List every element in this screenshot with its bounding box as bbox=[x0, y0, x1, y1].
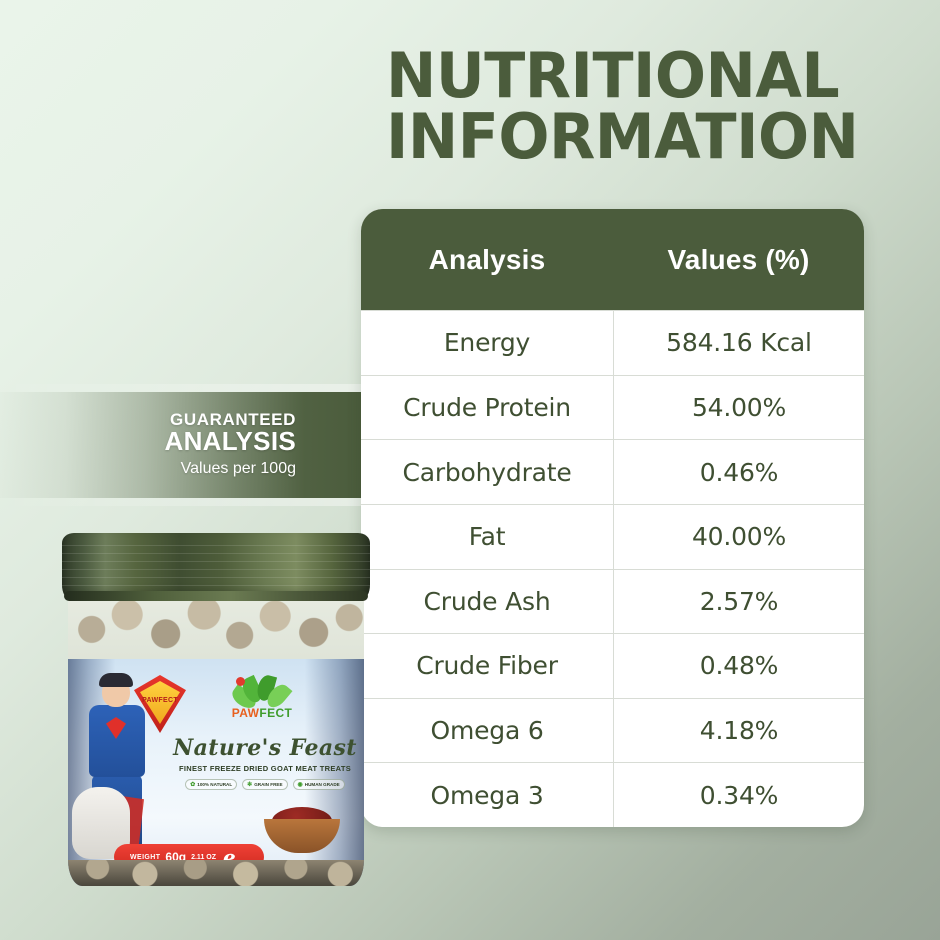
jar-bottom-treats bbox=[68, 860, 364, 886]
table-row: Crude Ash 2.57% bbox=[361, 569, 864, 634]
product-tagline: FINEST FREEZE DRIED GOAT MEAT TREATS bbox=[172, 764, 358, 773]
brand-name: PAWFECT bbox=[220, 707, 304, 719]
banner-strip-bottom bbox=[0, 498, 362, 506]
banner-sub-label: Values per 100g bbox=[181, 458, 296, 480]
cell-value: 584.16 Kcal bbox=[613, 311, 864, 375]
jar-label: PAWFECT PAWFECT Nature's Feast bbox=[68, 659, 364, 886]
cell-value: 40.00% bbox=[613, 505, 864, 569]
cell-analysis: Carbohydrate bbox=[361, 440, 613, 504]
column-header-values: Values (%) bbox=[613, 244, 864, 276]
badge-label: GRAIN FREE bbox=[254, 782, 282, 787]
product-name-block: Nature's Feast FINEST FREEZE DRIED GOAT … bbox=[172, 737, 358, 790]
table-header-row: Analysis Values (%) bbox=[361, 209, 864, 310]
cell-value: 0.48% bbox=[613, 634, 864, 698]
brand-name-part1: PAW bbox=[232, 706, 260, 720]
cell-value: 0.46% bbox=[613, 440, 864, 504]
brand-logo: PAWFECT bbox=[220, 673, 304, 719]
page-title: NUTRITIONAL INFORMATION bbox=[386, 46, 890, 168]
hero-hair bbox=[99, 673, 133, 687]
berry-icon bbox=[236, 677, 245, 686]
page-title-line-1: NUTRITIONAL bbox=[386, 46, 890, 107]
cell-analysis: Crude Protein bbox=[361, 376, 613, 440]
leaf-icon bbox=[220, 673, 304, 707]
superhero-shield-icon: PAWFECT bbox=[134, 675, 186, 733]
table-row: Omega 6 4.18% bbox=[361, 698, 864, 763]
brand-name-part2: FECT bbox=[259, 706, 292, 720]
product-badges: ✿ 100% NATURAL ✻ GRAIN FREE ◉ HUMAN GRAD… bbox=[172, 779, 358, 790]
paw-icon: ◉ bbox=[298, 781, 303, 788]
badge-label: 100% NATURAL bbox=[197, 782, 232, 787]
badge-natural: ✿ 100% NATURAL bbox=[185, 779, 237, 790]
badge-label: HUMAN GRADE bbox=[305, 782, 340, 787]
cell-value: 0.34% bbox=[613, 763, 864, 827]
nutrition-table: Analysis Values (%) Energy 584.16 Kcal C… bbox=[361, 209, 864, 827]
page-title-line-2: INFORMATION bbox=[386, 107, 890, 168]
cell-analysis: Energy bbox=[361, 311, 613, 375]
table-row: Omega 3 0.34% bbox=[361, 762, 864, 827]
table-row: Crude Protein 54.00% bbox=[361, 375, 864, 440]
wheat-icon: ✻ bbox=[247, 781, 252, 788]
shield-label: PAWFECT bbox=[134, 697, 186, 704]
jar-lid bbox=[62, 533, 370, 599]
column-header-analysis: Analysis bbox=[361, 244, 613, 276]
cell-value: 2.57% bbox=[613, 570, 864, 634]
infographic-page: NUTRITIONAL INFORMATION GUARANTEED ANALY… bbox=[0, 0, 940, 940]
cell-analysis: Crude Ash bbox=[361, 570, 613, 634]
cell-value: 4.18% bbox=[613, 699, 864, 763]
cell-analysis: Crude Fiber bbox=[361, 634, 613, 698]
badge-human-grade: ◉ HUMAN GRADE bbox=[293, 779, 345, 790]
product-name: Nature's Feast bbox=[172, 737, 358, 759]
cell-value: 54.00% bbox=[613, 376, 864, 440]
table-row: Fat 40.00% bbox=[361, 504, 864, 569]
wooden-bowl bbox=[264, 819, 340, 853]
leaf-icon: ✿ bbox=[190, 781, 195, 788]
cell-analysis: Omega 3 bbox=[361, 763, 613, 827]
cell-analysis: Fat bbox=[361, 505, 613, 569]
jar-body: PAWFECT PAWFECT Nature's Feast bbox=[68, 585, 364, 886]
table-row: Carbohydrate 0.46% bbox=[361, 439, 864, 504]
badge-grain-free: ✻ GRAIN FREE bbox=[242, 779, 287, 790]
food-bowl-illustration bbox=[264, 801, 340, 853]
product-jar-image: PAWFECT PAWFECT Nature's Feast bbox=[62, 533, 370, 886]
cell-analysis: Omega 6 bbox=[361, 699, 613, 763]
banner-strip-top bbox=[0, 384, 362, 392]
table-row: Energy 584.16 Kcal bbox=[361, 310, 864, 375]
jar-lid-rim bbox=[64, 591, 368, 601]
banner-main-label: ANALYSIS bbox=[165, 428, 296, 455]
guaranteed-analysis-banner: GUARANTEED ANALYSIS Values per 100g bbox=[0, 392, 362, 498]
table-row: Crude Fiber 0.48% bbox=[361, 633, 864, 698]
